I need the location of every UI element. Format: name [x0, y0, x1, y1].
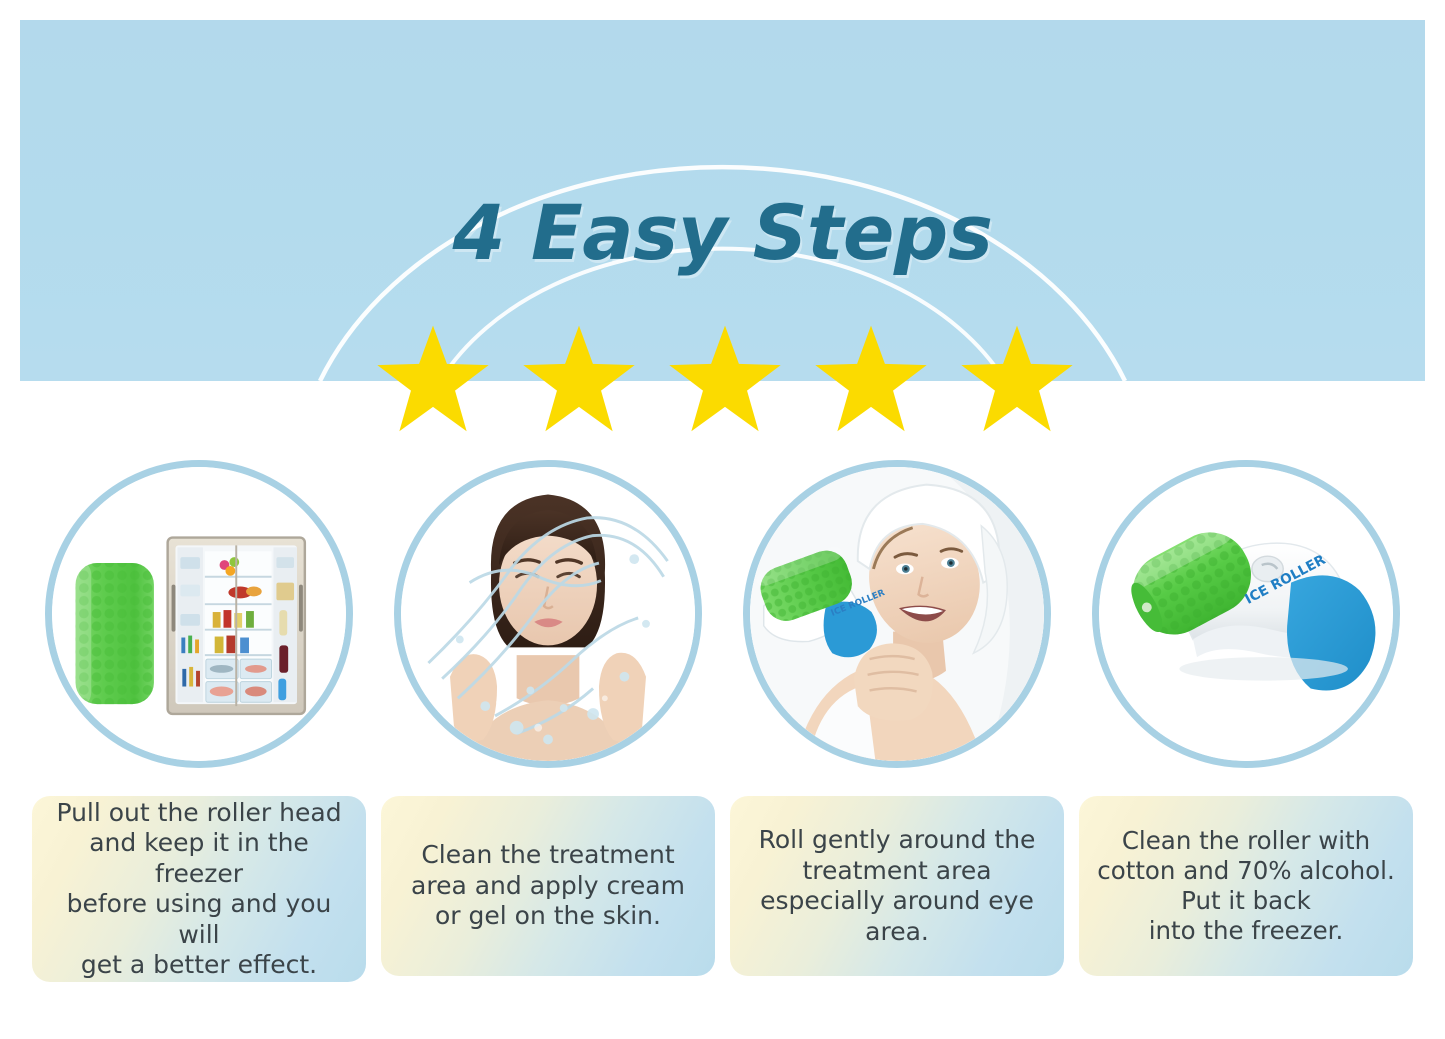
star-icon	[667, 323, 783, 435]
woman-using-ice-roller-photo: ICE ROLLER	[750, 467, 1044, 761]
steps-row: Pull out the roller head and keep it in …	[20, 460, 1425, 1020]
step-card-3: ICE ROLLER Roll gently around the treatm…	[732, 460, 1062, 1020]
star-icon	[813, 323, 929, 435]
woman-washing-face-photo	[401, 467, 695, 761]
step-4-text: Clean the roller with cotton and 70% alc…	[1097, 826, 1395, 946]
step-4-image-circle: ICE ROLLER	[1092, 460, 1400, 768]
star-icon	[521, 323, 637, 435]
poster-panel: 4 Easy Steps	[20, 20, 1425, 1020]
step-2-text: Clean the treatment area and apply cream…	[411, 840, 685, 932]
step-2-image-circle	[394, 460, 702, 768]
step-card-2: Clean the treatment area and apply cream…	[383, 460, 713, 1020]
step-card-4: ICE ROLLER Clean the roller with cotton …	[1081, 460, 1411, 1020]
step-1-image-circle	[45, 460, 353, 768]
roller-head-and-refrigerator-photo	[52, 467, 346, 761]
step-1-text: Pull out the roller head and keep it in …	[42, 798, 356, 981]
page-title: 4 Easy Steps	[20, 188, 1425, 277]
poster-root: 4 Easy Steps	[0, 0, 1445, 1039]
star-icon	[959, 323, 1075, 435]
step-1-text-card: Pull out the roller head and keep it in …	[32, 796, 366, 982]
step-3-text-card: Roll gently around the treatment area es…	[730, 796, 1064, 976]
step-2-text-card: Clean the treatment area and apply cream…	[381, 796, 715, 976]
star-icon	[375, 323, 491, 435]
step-4-text-card: Clean the roller with cotton and 70% alc…	[1079, 796, 1413, 976]
step-3-image-circle: ICE ROLLER	[743, 460, 1051, 768]
ice-roller-product-photo: ICE ROLLER	[1099, 467, 1393, 761]
step-card-1: Pull out the roller head and keep it in …	[34, 460, 364, 1020]
star-rating	[375, 323, 1075, 435]
step-3-text: Roll gently around the treatment area es…	[759, 825, 1036, 947]
